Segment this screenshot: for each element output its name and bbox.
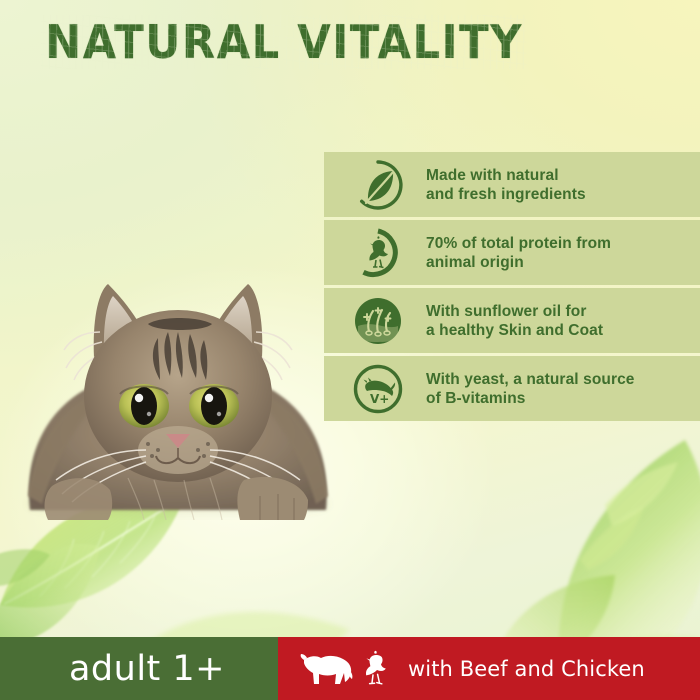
feature-row: 70% of total protein from animal origin bbox=[324, 220, 700, 285]
feature-text: With sunflower oil for a healthy Skin an… bbox=[426, 302, 603, 340]
leaf-in-circle-icon bbox=[352, 159, 404, 211]
page-title-text: NATURAL VITALITY bbox=[45, 15, 523, 69]
variant-panel: with Beef and Chicken bbox=[278, 637, 700, 700]
feature-row: Made with natural and fresh ingredients bbox=[324, 152, 700, 217]
skin-and-coat-icon bbox=[352, 295, 404, 347]
feature-text: Made with natural and fresh ingredients bbox=[426, 166, 586, 204]
chicken-in-donut-icon bbox=[352, 227, 404, 279]
cat-paw-left bbox=[45, 478, 113, 520]
variant-label: with Beef and Chicken bbox=[408, 657, 645, 681]
feature-line-1: 70% of total protein from bbox=[426, 234, 611, 253]
feature-text: With yeast, a natural source of B-vitami… bbox=[426, 370, 635, 408]
feature-line-1: Made with natural bbox=[426, 166, 586, 185]
feature-text: 70% of total protein from animal origin bbox=[426, 234, 611, 272]
life-stage-panel: adult 1+ bbox=[0, 637, 278, 700]
cat-vitamin-plus-icon: V+ bbox=[352, 363, 404, 415]
v-plus-label: V+ bbox=[370, 392, 389, 406]
chicken-silhouette-icon bbox=[369, 236, 388, 267]
ingredient-icons bbox=[300, 650, 390, 688]
life-stage-label: adult 1+ bbox=[69, 649, 225, 689]
feature-line-2: and fresh ingredients bbox=[426, 185, 586, 204]
feature-row: V+ With yeast, a natural source of B-vit… bbox=[324, 356, 700, 421]
feature-line-1: With sunflower oil for bbox=[426, 302, 603, 321]
feature-list: Made with natural and fresh ingredients … bbox=[324, 152, 700, 424]
feature-line-2: animal origin bbox=[426, 253, 611, 272]
feature-line-2: a healthy Skin and Coat bbox=[426, 321, 603, 340]
cow-icon bbox=[300, 651, 354, 687]
hero-cat-image bbox=[8, 228, 348, 520]
feature-line-2: of B-vitamins bbox=[426, 389, 635, 408]
bottom-bar: adult 1+ with Beef a bbox=[0, 637, 700, 700]
feature-row: With sunflower oil for a healthy Skin an… bbox=[324, 288, 700, 353]
page-title: NATURAL VITALITY bbox=[45, 17, 523, 67]
cat-illustration bbox=[8, 228, 348, 520]
feature-line-1: With yeast, a natural source bbox=[426, 370, 635, 389]
pet-food-pack-front: NATURAL VITALITY bbox=[0, 0, 700, 700]
chicken-icon bbox=[362, 650, 390, 688]
